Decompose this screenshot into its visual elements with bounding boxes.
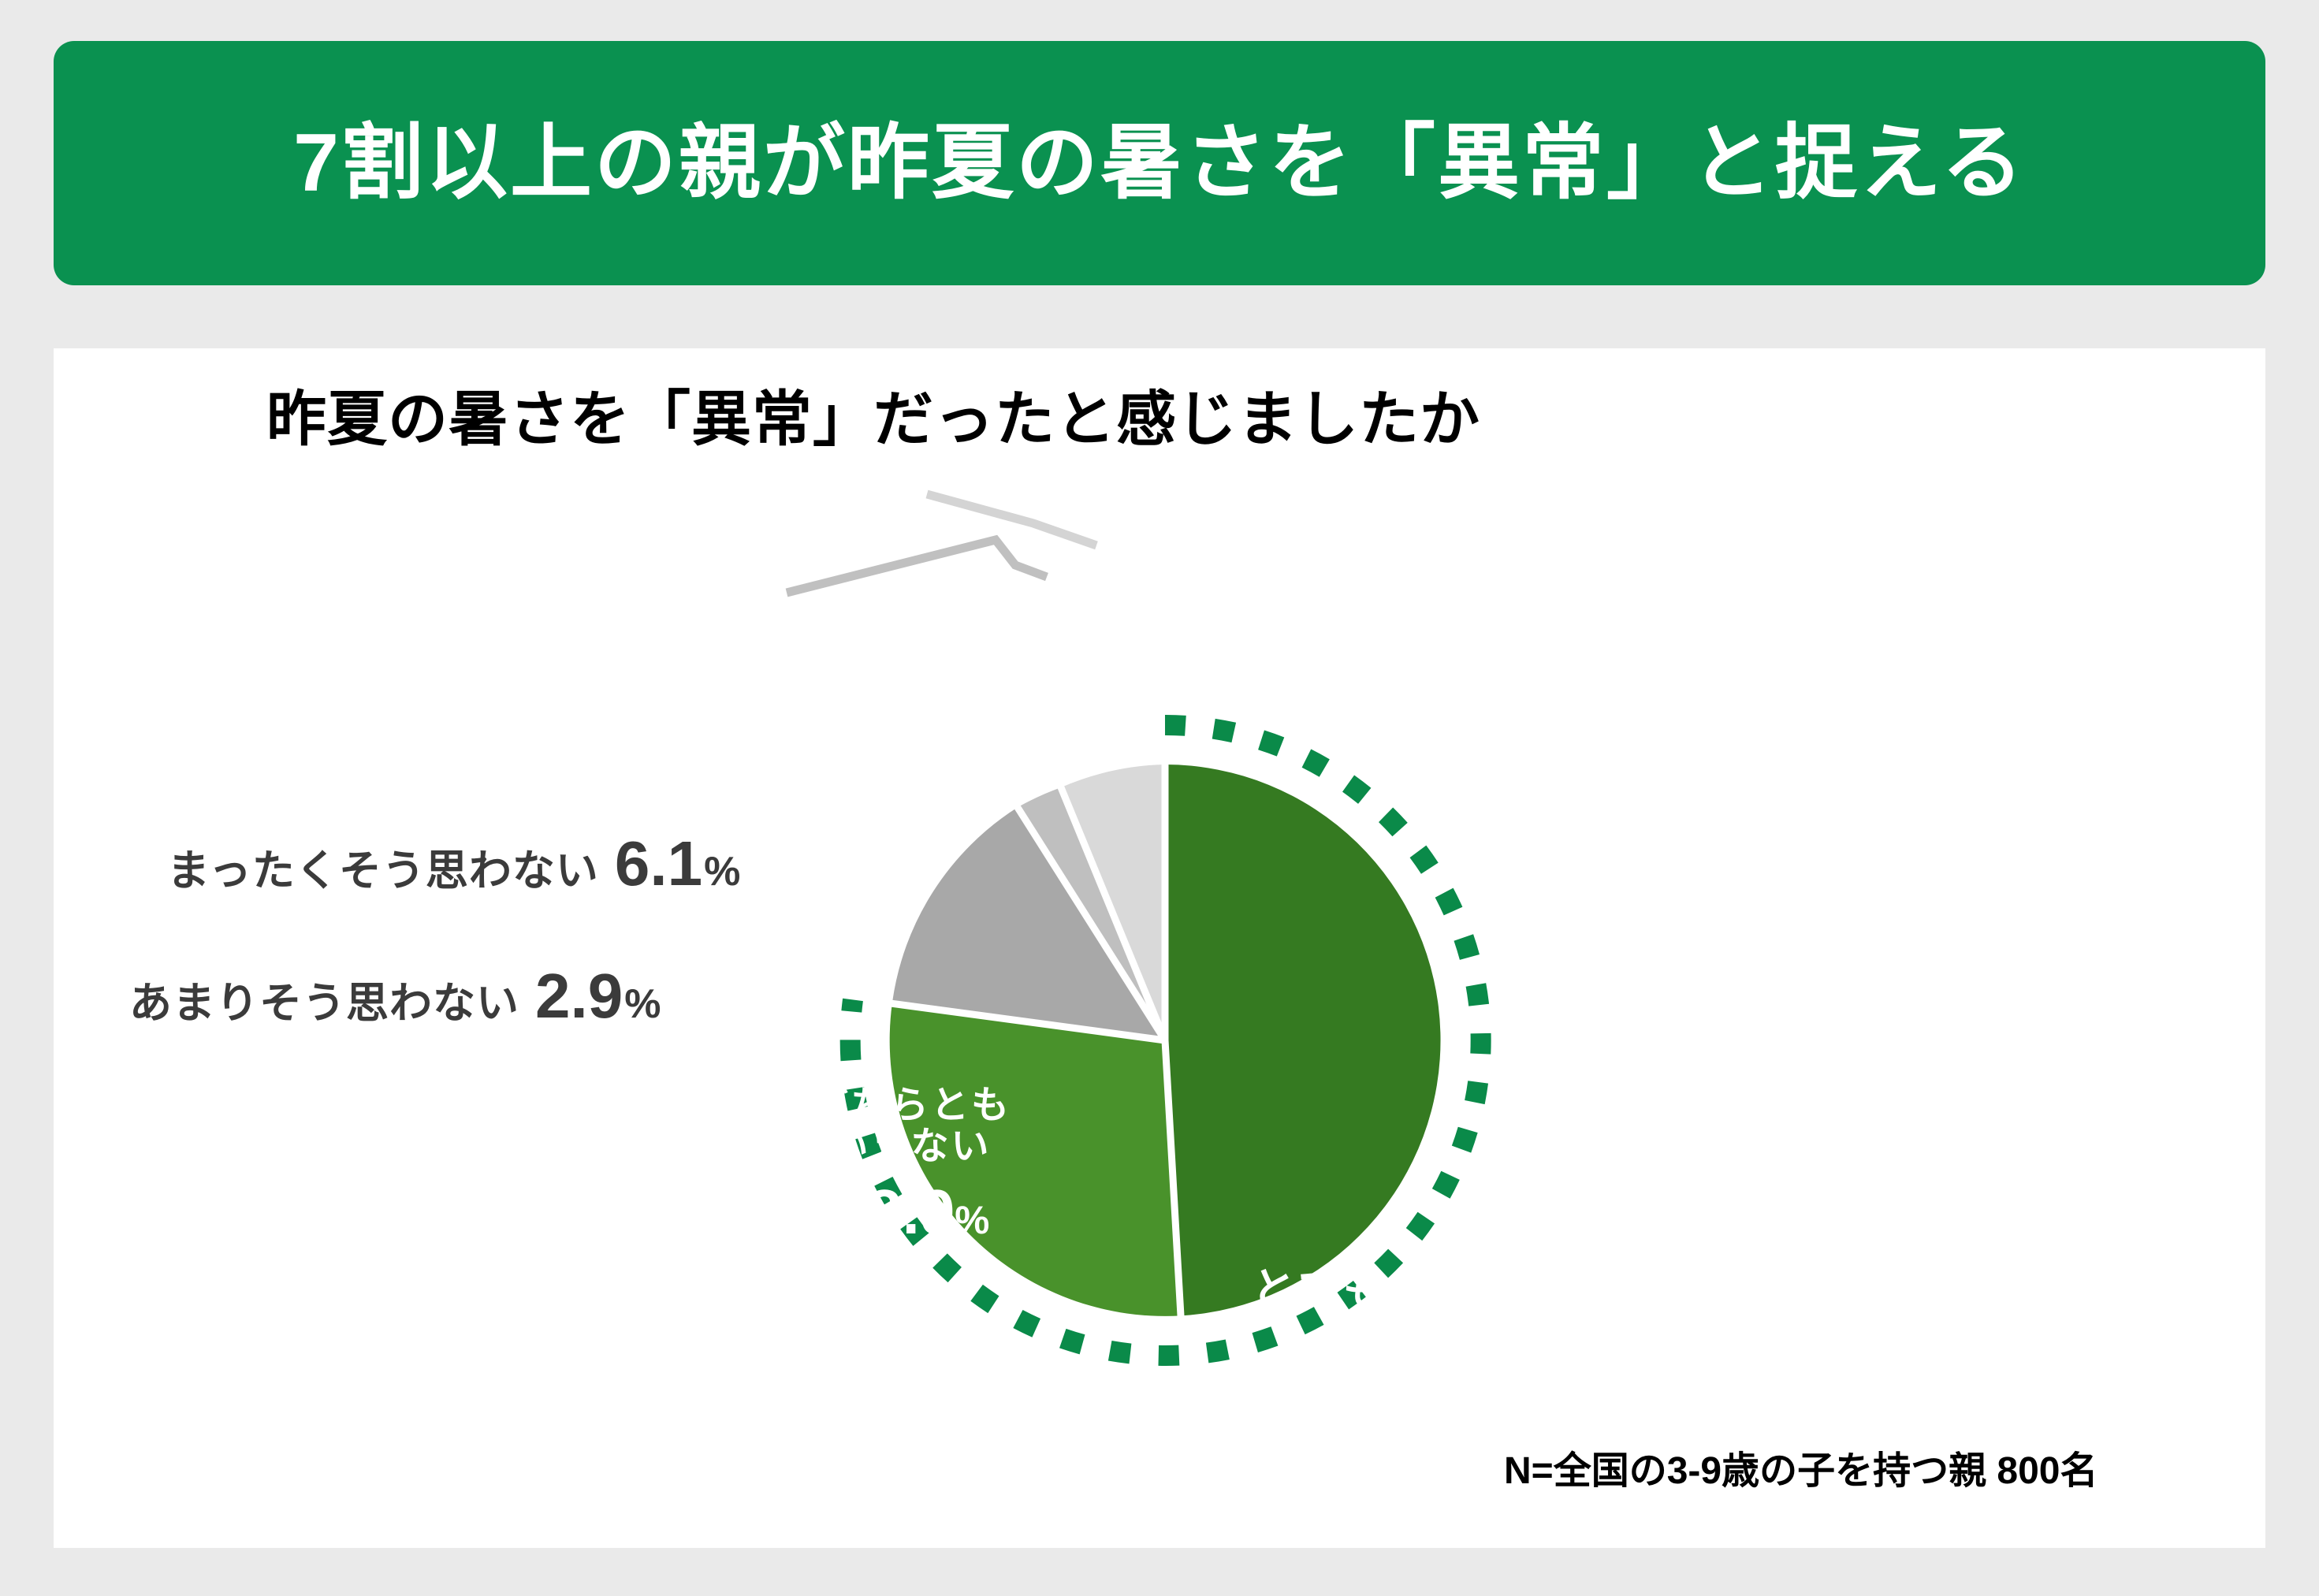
wedge-label-somewhat-value: 28.0% (826, 1462, 1100, 1537)
chart-card: 昨夏の暑さを「異常」だったと感じましたか まったくそう思わない 6.1 (54, 348, 2265, 1548)
wedge-label-neither-number: 13.9 (832, 1177, 955, 1247)
wedge-label-somewhat: ややそう思う 28.0% (826, 1408, 1100, 1537)
wedge-label-neither: どちらとも いえない 13.9% (810, 1085, 1011, 1246)
header-banner: 7割以上の親が昨夏の暑さを「異常」と捉える (54, 41, 2265, 285)
wedge-label-somewhat-number: 28.0 (877, 1460, 1011, 1538)
wedge-label-neither-percent-sign: % (955, 1198, 989, 1242)
page-title: 7割以上の親が昨夏の暑さを「異常」と捉える (293, 118, 2026, 208)
callout-not-much-percent-sign: % (624, 980, 661, 1028)
wedge-label-neither-line1: どちらとも (810, 1085, 1011, 1126)
wedge-label-neither-value: 13.9% (810, 1178, 1011, 1246)
pie-chart (54, 348, 2265, 1548)
leader-line-not-at-all (927, 494, 1096, 545)
callout-not-much: あまりそう思わない 2.9 % (129, 960, 661, 1032)
wedge-label-neither-line2: いえない (810, 1126, 1011, 1167)
callout-not-much-value: 2.9 (535, 960, 623, 1032)
pie-slice-very-much[interactable] (1165, 765, 1441, 1315)
wedge-label-somewhat-percent-sign: % (1011, 1485, 1050, 1533)
wedge-label-very-much-number: 49.1 (1324, 1319, 1465, 1400)
callout-not-at-all: まったくそう思わない 6.1 % (167, 828, 740, 900)
wedge-label-very-much-percent-sign: % (1465, 1344, 1506, 1394)
wedge-label-very-much-value: 49.1% (1252, 1321, 1578, 1399)
wedge-label-very-much: とてもそう思う 49.1% (1252, 1266, 1578, 1400)
wedge-label-somewhat-name: ややそう思う (826, 1408, 1100, 1454)
callout-not-at-all-label: まったくそう思わない (167, 835, 599, 898)
leader-line-not-much (787, 540, 1047, 593)
sample-size-note: N=全国の3-9歳の子を持つ親 800名 (1504, 1439, 2098, 1494)
callout-not-at-all-value: 6.1 (615, 828, 702, 900)
callout-not-at-all-percent-sign: % (704, 848, 740, 895)
callout-not-much-label: あまりそう思わない (129, 968, 519, 1030)
wedge-label-very-much-name: とてもそう思う (1252, 1266, 1578, 1313)
